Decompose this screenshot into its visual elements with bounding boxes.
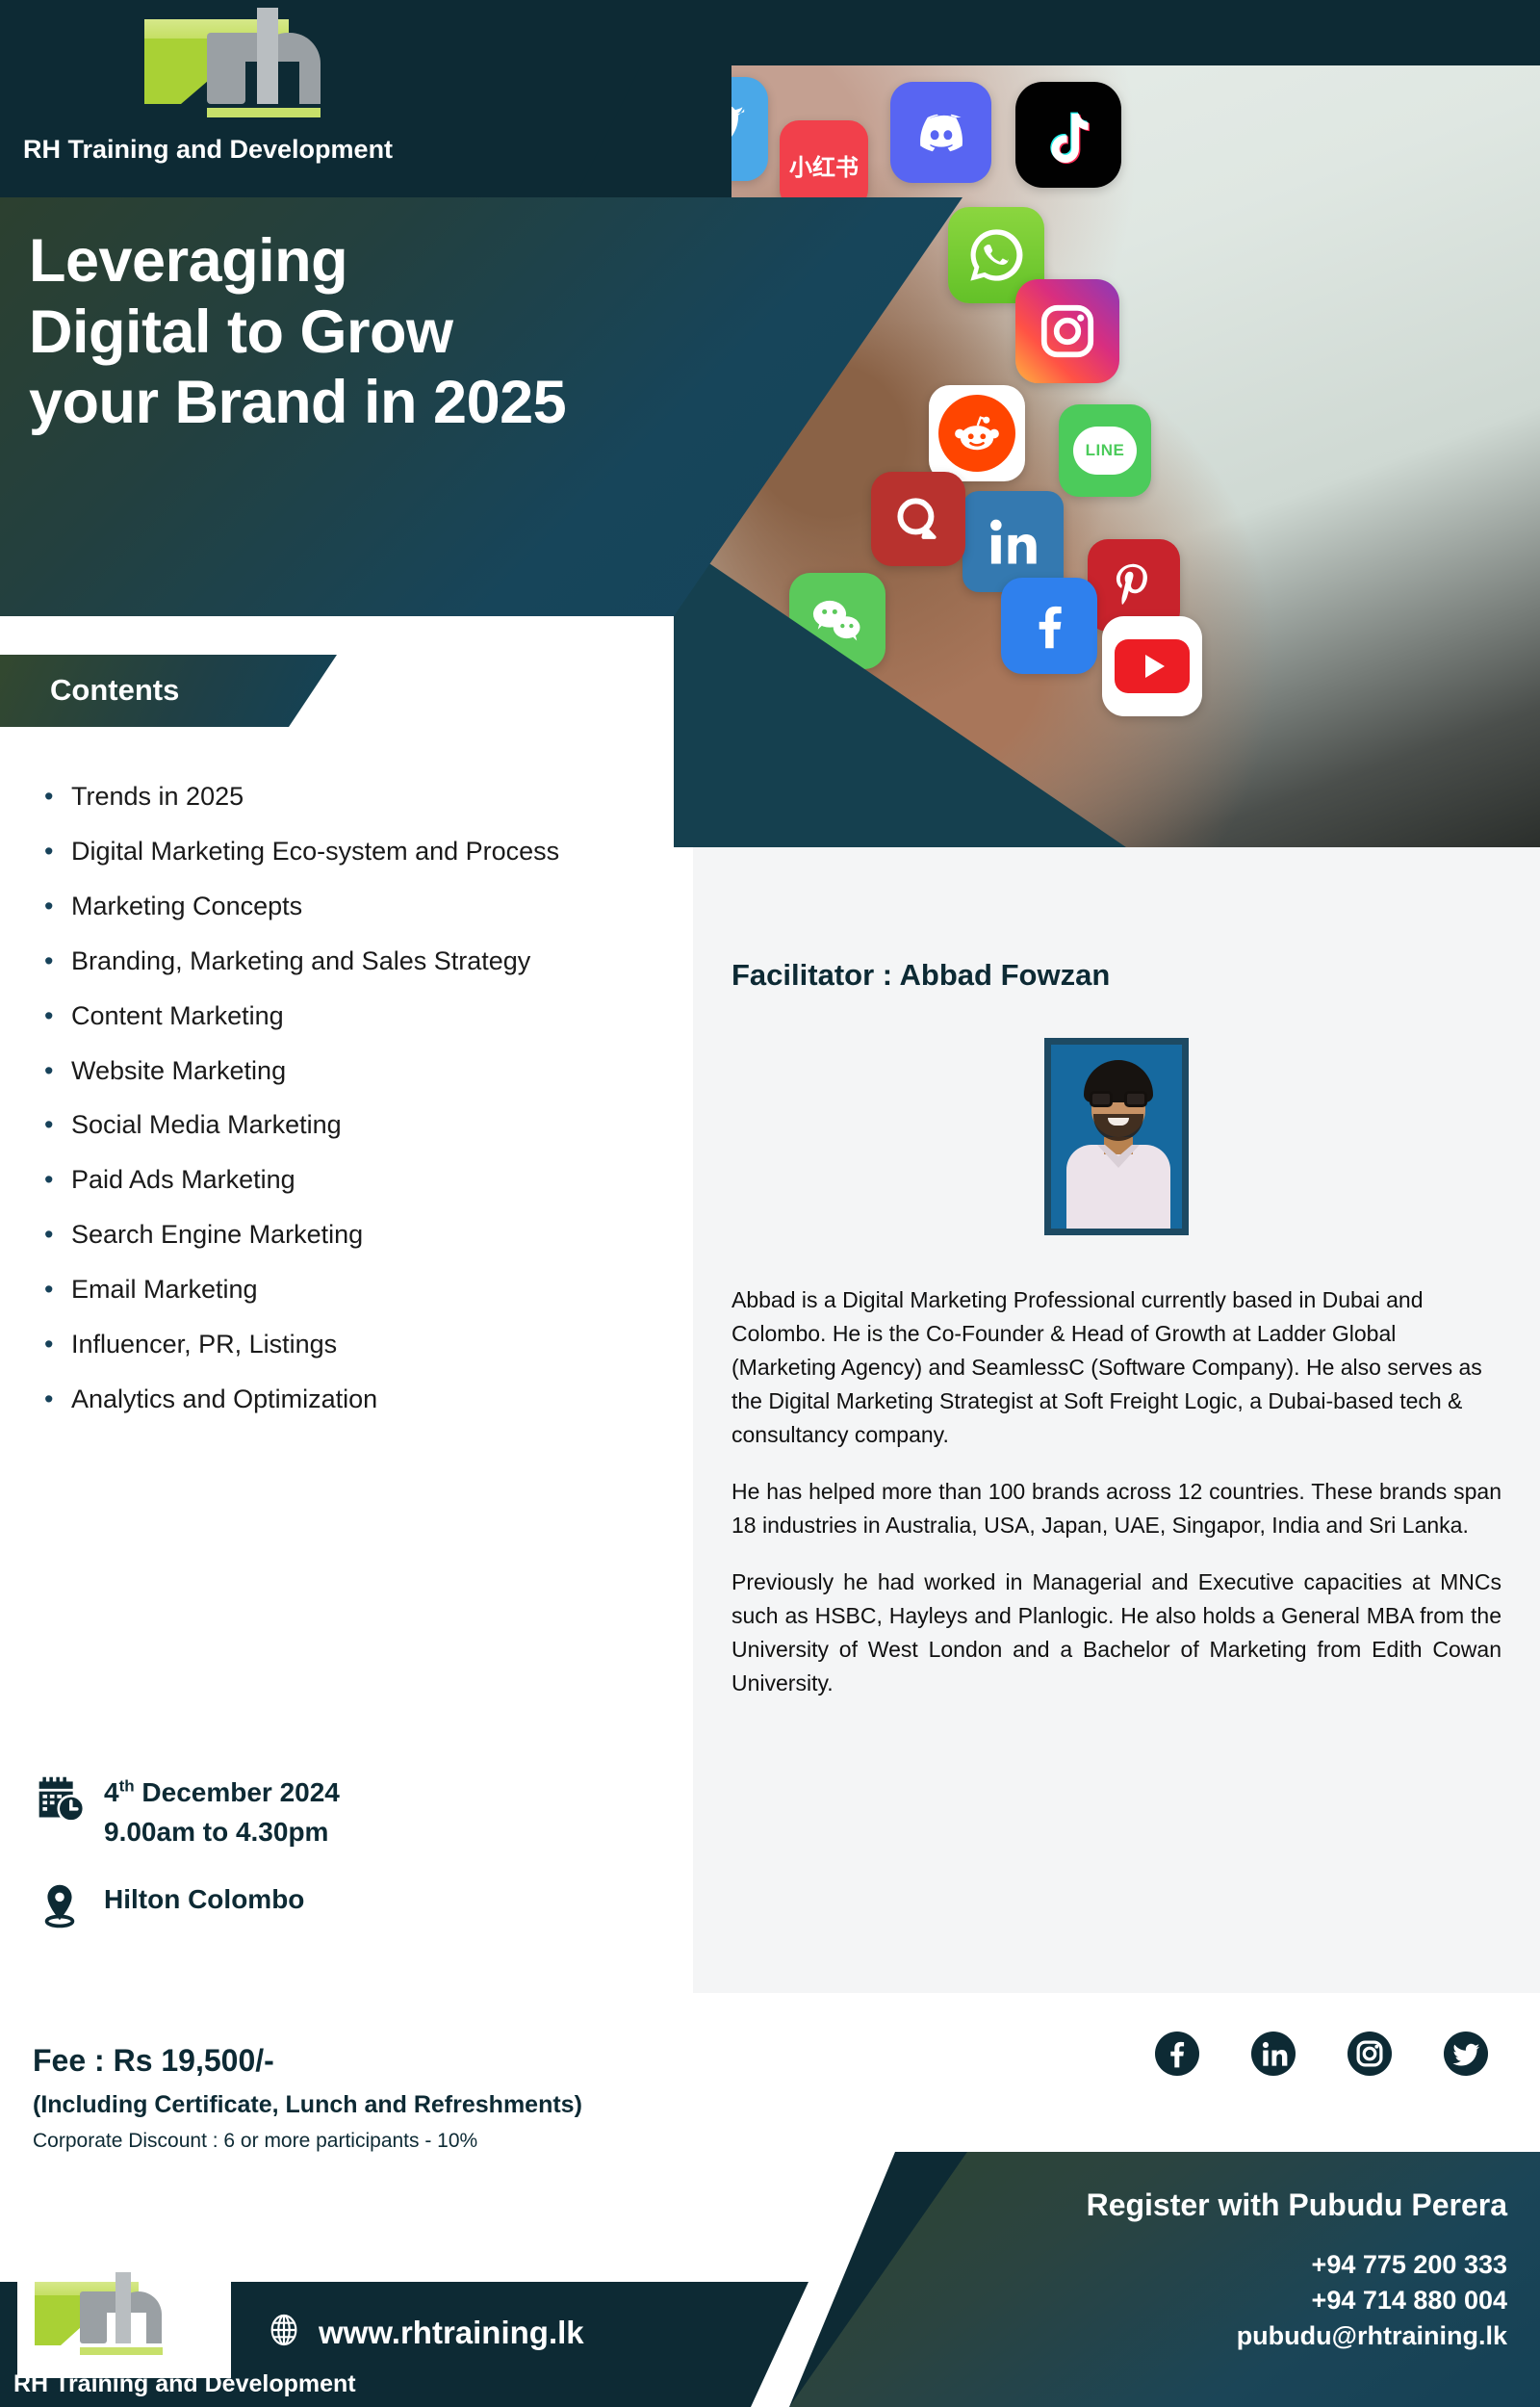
- register-phone-2[interactable]: +94 714 880 004: [1237, 2283, 1507, 2318]
- fee-block: Fee : Rs 19,500/- (Including Certificate…: [33, 2043, 822, 2153]
- contents-item-label: Analytics and Optimization: [71, 1385, 377, 1413]
- list-item: •Marketing Concepts: [31, 890, 666, 924]
- globe-icon: [265, 2311, 303, 2354]
- page-title: Leveraging Digital to Grow your Brand in…: [29, 226, 566, 439]
- bullet-icon: •: [44, 1108, 53, 1143]
- app-icon-qq: [871, 472, 965, 566]
- bio-paragraph: Previously he had worked in Managerial a…: [731, 1566, 1501, 1700]
- footer-logo-underline: [80, 2347, 163, 2355]
- fee-amount: Fee : Rs 19,500/-: [33, 2043, 822, 2079]
- list-item: •Social Media Marketing: [31, 1108, 666, 1143]
- contents-item-label: Trends in 2025: [71, 782, 244, 811]
- event-meta: 4th December 2024 9.00am to 4.30pm Hilto…: [35, 1770, 651, 1960]
- register-contacts: +94 775 200 333 +94 714 880 004 pubudu@r…: [1237, 2247, 1507, 2354]
- bullet-icon: •: [44, 835, 53, 869]
- facilitator-bio: Abbad is a Digital Marketing Professiona…: [731, 1283, 1501, 1722]
- bullet-icon: •: [44, 1218, 53, 1253]
- app-icon-facebook: [1001, 578, 1097, 674]
- contents-item-label: Influencer, PR, Listings: [71, 1330, 337, 1359]
- list-item: •Digital Marketing Eco-system and Proces…: [31, 835, 666, 869]
- bullet-icon: •: [44, 890, 53, 924]
- facebook-icon[interactable]: [1155, 2032, 1199, 2076]
- calendar-clock-icon: [35, 1770, 104, 1832]
- event-time: 9.00am to 4.30pm: [104, 1813, 340, 1852]
- fee-inclusions: (Including Certificate, Lunch and Refres…: [33, 2091, 822, 2119]
- bullet-icon: •: [44, 1328, 53, 1362]
- logo-underline: [207, 108, 321, 117]
- bullet-icon: •: [44, 945, 53, 979]
- contents-item-label: Social Media Marketing: [71, 1110, 342, 1139]
- app-icon-line: LINE: [1059, 404, 1151, 497]
- bullet-icon: •: [44, 999, 53, 1034]
- list-item: •Analytics and Optimization: [31, 1383, 666, 1417]
- contents-tab: Contents: [0, 655, 337, 727]
- event-date: 4th December 2024: [104, 1773, 340, 1813]
- rh-logo: [91, 8, 342, 123]
- footer-logo-h-stem: [115, 2272, 131, 2343]
- list-item: •Content Marketing: [31, 999, 666, 1034]
- contents-item-label: Website Marketing: [71, 1056, 286, 1085]
- logo-letter-h-counter: [278, 62, 299, 104]
- list-item: •Trends in 2025: [31, 780, 666, 815]
- bio-paragraph: Abbad is a Digital Marketing Professiona…: [731, 1283, 1501, 1452]
- event-date-month-year: December 2024: [135, 1777, 340, 1807]
- twitter-icon[interactable]: [1444, 2032, 1488, 2076]
- list-item: •Email Marketing: [31, 1273, 666, 1307]
- fee-corporate-discount: Corporate Discount : 6 or more participa…: [33, 2130, 822, 2153]
- footer-logo-h-counter: [131, 2313, 146, 2343]
- contents-item-label: Search Engine Marketing: [71, 1220, 363, 1249]
- event-venue: Hilton Colombo: [104, 1876, 304, 1920]
- footer-logo-r: [80, 2291, 107, 2343]
- contents-item-label: Branding, Marketing and Sales Strategy: [71, 946, 530, 975]
- flyer-page: 小红书 LINE: [0, 0, 1540, 2407]
- bullet-icon: •: [44, 780, 53, 815]
- facilitator-avatar: [1044, 1038, 1189, 1235]
- title-line-1: Leveraging: [29, 226, 566, 298]
- bullet-icon: •: [44, 1383, 53, 1417]
- social-links: [1155, 2032, 1511, 2076]
- app-icon-discord: [890, 82, 991, 183]
- bullet-icon: •: [44, 1273, 53, 1307]
- list-item: •Search Engine Marketing: [31, 1218, 666, 1253]
- map-pin-icon: [35, 1876, 104, 1935]
- event-venue-row: Hilton Colombo: [35, 1876, 651, 1935]
- footer-website[interactable]: www.rhtraining.lk: [265, 2311, 584, 2354]
- instagram-icon[interactable]: [1347, 2032, 1392, 2076]
- app-icon-youtube: [1102, 616, 1202, 716]
- rh-logo-footer: [17, 2270, 231, 2378]
- brand-name-top: RH Training and Development: [23, 135, 393, 165]
- website-url[interactable]: www.rhtraining.lk: [319, 2315, 584, 2351]
- contents-item-label: Content Marketing: [71, 1001, 284, 1030]
- list-item: •Paid Ads Marketing: [31, 1163, 666, 1198]
- contents-heading: Contents: [50, 673, 179, 708]
- app-icon-tiktok: [1015, 82, 1121, 188]
- register-phone-1[interactable]: +94 775 200 333: [1237, 2247, 1507, 2283]
- contents-list: •Trends in 2025 •Digital Marketing Eco-s…: [31, 780, 666, 1437]
- contents-item-label: Paid Ads Marketing: [71, 1165, 295, 1194]
- title-line-2: Digital to Grow: [29, 298, 566, 369]
- bullet-icon: •: [44, 1054, 53, 1089]
- register-email[interactable]: pubudu@rhtraining.lk: [1237, 2318, 1507, 2354]
- event-date-time: 4th December 2024 9.00am to 4.30pm: [104, 1770, 340, 1851]
- contents-item-label: Email Marketing: [71, 1275, 258, 1304]
- list-item: •Website Marketing: [31, 1054, 666, 1089]
- app-icon-reddit: [929, 385, 1025, 481]
- app-icon-instagram: [1015, 279, 1119, 383]
- bio-paragraph: He has helped more than 100 brands acros…: [731, 1475, 1501, 1542]
- list-item: •Influencer, PR, Listings: [31, 1328, 666, 1362]
- event-date-suffix: th: [119, 1777, 135, 1796]
- logo-letter-h-stem: [257, 8, 278, 104]
- event-date-day: 4: [104, 1777, 119, 1807]
- facilitator-title: Facilitator : Abbad Fowzan: [731, 958, 1110, 993]
- contents-item-label: Digital Marketing Eco-system and Process: [71, 837, 559, 866]
- linkedin-icon[interactable]: [1251, 2032, 1296, 2076]
- app-icon-xiaohongshu: 小红书: [780, 120, 868, 209]
- brand-name-footer: RH Training and Development: [13, 2370, 356, 2398]
- logo-letter-r: [207, 33, 245, 104]
- title-line-3: your Brand in 2025: [29, 368, 566, 439]
- list-item: •Branding, Marketing and Sales Strategy: [31, 945, 666, 979]
- event-date-row: 4th December 2024 9.00am to 4.30pm: [35, 1770, 651, 1851]
- avatar-glasses: [1090, 1091, 1147, 1107]
- contents-item-label: Marketing Concepts: [71, 892, 302, 920]
- bullet-icon: •: [44, 1163, 53, 1198]
- register-title: Register with Pubudu Perera: [1087, 2187, 1507, 2223]
- hero-section: 小红书 LINE: [0, 0, 1540, 847]
